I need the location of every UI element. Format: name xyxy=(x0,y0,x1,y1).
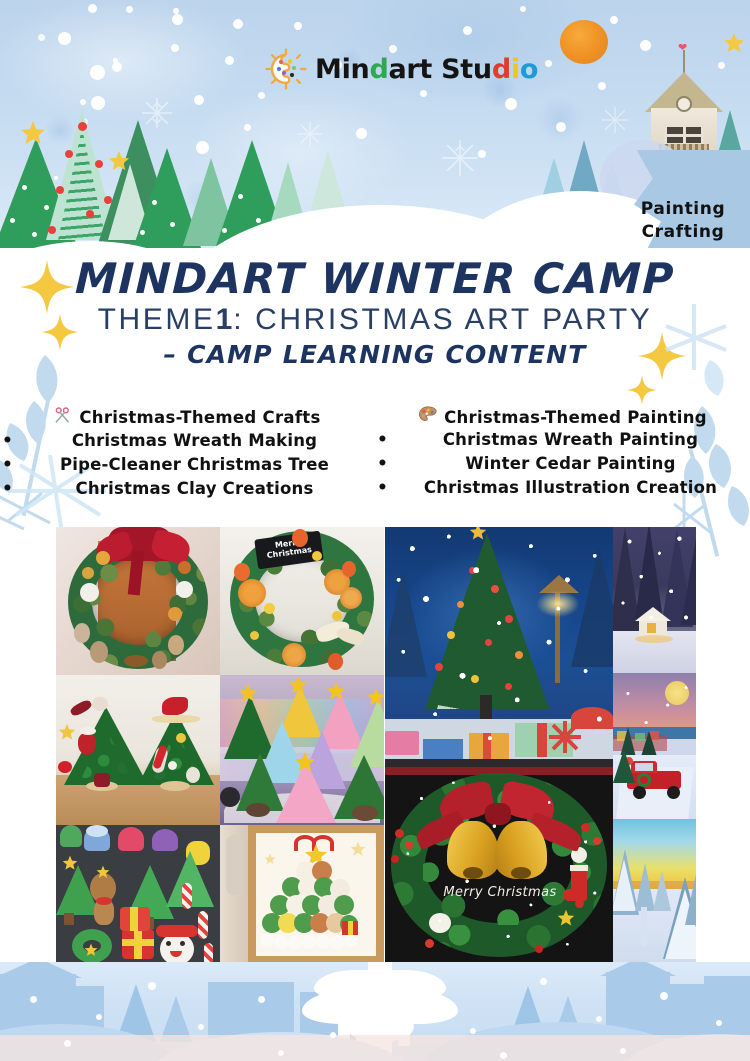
crafts-list: •Christmas Wreath Making •Pipe-Cleaner C… xyxy=(0,429,375,501)
photo-wreath-red-bow[interactable] xyxy=(56,527,220,675)
painting-column: Christmas-Themed Painting •Christmas Wre… xyxy=(375,406,750,506)
painting-bells-wreath[interactable]: Merry Christmas xyxy=(385,767,613,964)
snow-dot xyxy=(380,1006,386,1012)
snow-dot xyxy=(463,26,472,35)
snow-dot xyxy=(545,60,552,67)
snow-dot xyxy=(330,1032,336,1038)
star-icon xyxy=(108,150,130,172)
snowflake-icon xyxy=(600,105,630,135)
brand-name-seg: d xyxy=(369,54,388,85)
painting-christmas-tree-gifts[interactable] xyxy=(385,527,613,767)
snow-dot xyxy=(126,6,133,13)
crafts-column: Christmas-Themed Crafts •Christmas Wreat… xyxy=(0,406,375,506)
snow-dot xyxy=(113,58,118,63)
snow-dot xyxy=(148,982,156,990)
snow-dot xyxy=(91,96,105,110)
snow-dot xyxy=(96,1014,102,1020)
snowflake-icon xyxy=(440,138,480,178)
list-item-label: Winter Cedar Painting xyxy=(465,454,675,473)
snow-dot xyxy=(225,56,234,65)
tree-ornament xyxy=(65,150,73,158)
theme-prefix: THEME xyxy=(98,303,216,336)
painting-heading-text: Christmas-Themed Painting xyxy=(444,408,707,427)
snow-dot xyxy=(718,62,725,69)
bullet-glyph: • xyxy=(2,453,13,478)
brand-name-seg: art Stu xyxy=(388,54,491,85)
list-item: •Christmas Wreath Painting xyxy=(375,428,750,452)
snow-dot xyxy=(244,124,251,131)
snow-dot xyxy=(430,988,438,996)
brand-name-seg: d xyxy=(492,54,511,85)
paint-palette-icon xyxy=(418,406,438,428)
list-item-label: Pipe-Cleaner Christmas Tree xyxy=(60,455,329,474)
list-item-label: Christmas Wreath Making xyxy=(72,431,317,450)
theme-number: 1 xyxy=(216,303,234,336)
snow-dot xyxy=(58,32,71,45)
house-roof xyxy=(600,962,676,976)
painting-winter-cedars-sunset[interactable] xyxy=(613,819,696,964)
village-house xyxy=(704,976,750,1038)
photo-wreath-merry-christmas[interactable]: MerryChristmas xyxy=(220,527,384,675)
snow-dot xyxy=(278,1050,284,1056)
snow-dot xyxy=(660,992,668,1000)
list-item: •Christmas Wreath Making xyxy=(0,429,375,453)
snow-dot xyxy=(64,1040,71,1047)
brand-name: Mindart Studio xyxy=(315,54,538,85)
snowflake-icon xyxy=(296,120,324,148)
bullet-glyph: • xyxy=(2,477,13,502)
house-roof xyxy=(0,962,82,978)
bottom-scene xyxy=(0,962,750,1061)
bullet-glyph: • xyxy=(377,476,388,501)
snow-dot xyxy=(640,40,651,51)
snow-dot xyxy=(80,99,86,105)
snow-dot xyxy=(598,82,606,90)
snow-dot xyxy=(420,90,427,97)
village-house xyxy=(660,984,710,1038)
snow-dot xyxy=(356,128,367,139)
photo-clay-ornaments[interactable] xyxy=(56,825,220,964)
list-item-label: Christmas Illustration Creation xyxy=(424,478,717,497)
snow-dot xyxy=(556,122,566,132)
snow-dot xyxy=(90,65,105,80)
photo-clay-tree-frame[interactable] xyxy=(220,825,384,964)
star-icon xyxy=(20,120,46,146)
poster-root: ❤ xyxy=(0,0,750,1061)
photo-pipe-cleaner-trees-pair[interactable] xyxy=(56,675,220,825)
snow-dot xyxy=(30,996,37,1003)
snow-dot xyxy=(88,4,97,13)
snow-dot xyxy=(258,996,265,1003)
paintings-grid: Merry Christmas xyxy=(385,527,696,964)
theme-rest: : CHRISTMAS ART PARTY xyxy=(233,303,652,336)
snow-dot xyxy=(620,1048,626,1054)
snow-dot xyxy=(171,44,179,52)
snow-dot xyxy=(198,1024,204,1030)
list-item: •Christmas Clay Creations xyxy=(0,477,375,501)
snow-dot xyxy=(112,62,122,72)
snow-dot xyxy=(505,98,517,110)
list-item-label: Christmas Wreath Painting xyxy=(443,430,698,449)
subtitle: – CAMP LEARNING CONTENT xyxy=(0,340,750,369)
category-label-painting: Painting xyxy=(624,198,742,221)
snow-dot xyxy=(470,1028,476,1034)
brand-name-seg: Min xyxy=(315,54,369,85)
category-label: Painting Crafting xyxy=(624,198,742,244)
title-block: MINDART WINTER CAMP THEME1: CHRISTMAS AR… xyxy=(0,258,750,369)
painting-heading: Christmas-Themed Painting xyxy=(375,406,750,428)
village-house xyxy=(208,982,294,1038)
snow-dot xyxy=(596,1016,602,1022)
bullet-glyph: • xyxy=(377,428,388,453)
category-label-crafting: Crafting xyxy=(624,221,742,244)
snow-dot xyxy=(294,22,302,30)
photo-gallery: MerryChristmas xyxy=(0,527,750,967)
bullet-glyph: • xyxy=(377,452,388,477)
snow-dot xyxy=(258,92,265,99)
sun-icon xyxy=(560,20,608,64)
snow-dot xyxy=(173,8,179,14)
snow-dot xyxy=(38,34,45,41)
snow-dot xyxy=(520,6,526,12)
theme-title: THEME1: CHRISTMAS ART PARTY xyxy=(0,304,750,336)
learning-content-lists: Christmas-Themed Crafts •Christmas Wreat… xyxy=(0,406,750,506)
list-item: •Winter Cedar Painting xyxy=(375,452,750,476)
photo-pipe-cleaner-trees-colorful[interactable] xyxy=(220,675,384,825)
brand-name-seg: i xyxy=(511,54,520,85)
list-item: •Pipe-Cleaner Christmas Tree xyxy=(0,453,375,477)
snow-dot xyxy=(610,16,618,24)
painting-side-column xyxy=(613,527,696,964)
bullet-glyph: • xyxy=(2,429,13,454)
snow-dot xyxy=(716,1020,722,1026)
tree-ornament xyxy=(78,122,87,131)
snow-dot xyxy=(233,19,243,29)
painting-red-truck-moon[interactable] xyxy=(613,673,696,819)
painting-list: •Christmas Wreath Painting •Winter Cedar… xyxy=(375,428,750,500)
heart-icon: ❤ xyxy=(678,44,688,53)
list-item-label: Christmas Clay Creations xyxy=(76,479,314,498)
cabin-round-window xyxy=(676,96,692,112)
crafts-photo-grid: MerryChristmas xyxy=(56,527,384,964)
snow-dot xyxy=(172,14,183,25)
painting-snowy-cabin[interactable] xyxy=(613,527,696,673)
snow-ground-warm-tint xyxy=(0,1035,750,1061)
star-icon xyxy=(723,32,745,54)
snow-dot xyxy=(194,95,204,105)
cabin-window xyxy=(664,124,704,146)
palette-sun-icon xyxy=(265,48,307,90)
crafts-heading: Christmas-Themed Crafts xyxy=(0,406,375,429)
crafts-heading-text: Christmas-Themed Crafts xyxy=(79,408,320,427)
snow-dot xyxy=(500,1052,507,1059)
brand-logo[interactable]: Mindart Studio xyxy=(265,48,538,90)
list-item: •Christmas Illustration Creation xyxy=(375,476,750,500)
main-title: MINDART WINTER CAMP xyxy=(0,258,750,300)
snow-dot xyxy=(540,978,547,985)
brand-name-seg: o xyxy=(520,54,538,85)
scissors-icon xyxy=(54,406,73,429)
